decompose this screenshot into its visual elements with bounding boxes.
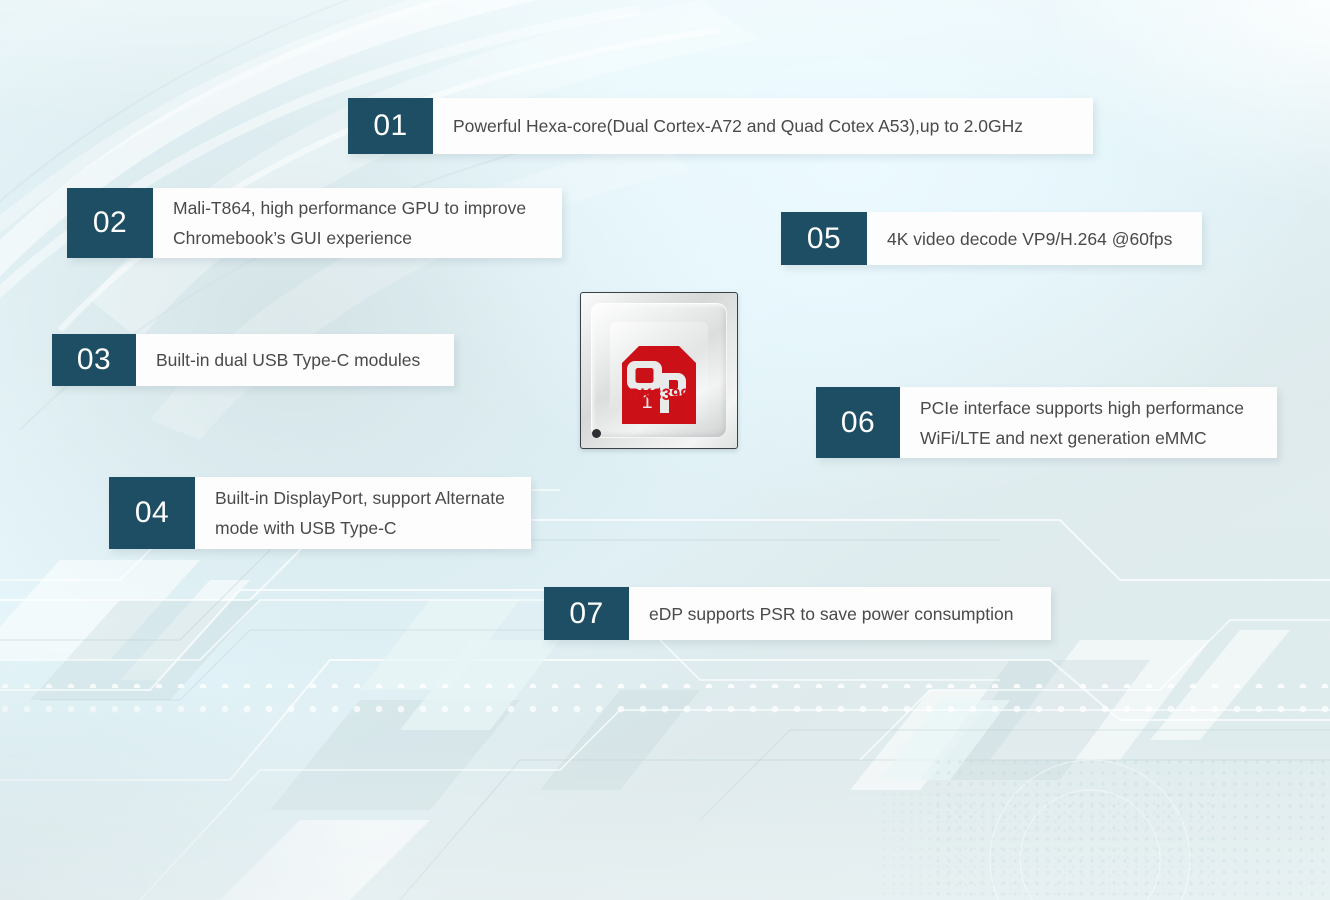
feature-number-badge-01: 01 <box>348 98 433 154</box>
feature-number-badge-02: 02 <box>67 188 153 258</box>
feature-text-05: 4K video decode VP9/H.264 @60fps <box>867 212 1202 265</box>
feature-number-badge-07: 07 <box>544 587 629 640</box>
feature-text-02: Mali-T864, high performance GPU to impro… <box>153 188 562 258</box>
feature-item-02[interactable]: 02 Mali-T864, high performance GPU to im… <box>67 188 562 258</box>
chip-bevel: 1 RK3399 <box>591 303 727 438</box>
chip-part-number-label: RK3399 <box>610 386 708 405</box>
feature-item-01[interactable]: 01 Powerful Hexa-core(Dual Cortex-A72 an… <box>348 98 1093 154</box>
feature-text-03: Built-in dual USB Type-C modules <box>136 334 454 386</box>
feature-text-01: Powerful Hexa-core(Dual Cortex-A72 and Q… <box>433 98 1093 154</box>
feature-text-06: PCIe interface supports high performance… <box>900 387 1277 458</box>
feature-number-badge-04: 04 <box>109 477 195 549</box>
chip-pin1-dot-icon <box>592 429 601 438</box>
feature-item-05[interactable]: 05 4K video decode VP9/H.264 @60fps <box>781 212 1202 265</box>
feature-number-badge-05: 05 <box>781 212 867 265</box>
feature-text-07: eDP supports PSR to save power consumpti… <box>629 587 1051 640</box>
chip-die-surface: 1 RK3399 <box>610 322 708 419</box>
feature-item-04[interactable]: 04 Built-in DisplayPort, support Alterna… <box>109 477 531 549</box>
chip-package: 1 RK3399 <box>580 292 738 449</box>
feature-item-03[interactable]: 03 Built-in dual USB Type-C modules <box>52 334 454 386</box>
feature-number-badge-06: 06 <box>816 387 900 458</box>
feature-text-04: Built-in DisplayPort, support Alternate … <box>195 477 531 549</box>
infographic-canvas: 01 Powerful Hexa-core(Dual Cortex-A72 an… <box>0 0 1330 900</box>
feature-item-06[interactable]: 06 PCIe interface supports high performa… <box>816 387 1277 458</box>
feature-item-07[interactable]: 07 eDP supports PSR to save power consum… <box>544 587 1051 640</box>
rk3399-chip-graphic: 1 RK3399 <box>580 292 738 449</box>
feature-number-badge-03: 03 <box>52 334 136 386</box>
rockchip-logo-icon: 1 <box>622 346 696 424</box>
